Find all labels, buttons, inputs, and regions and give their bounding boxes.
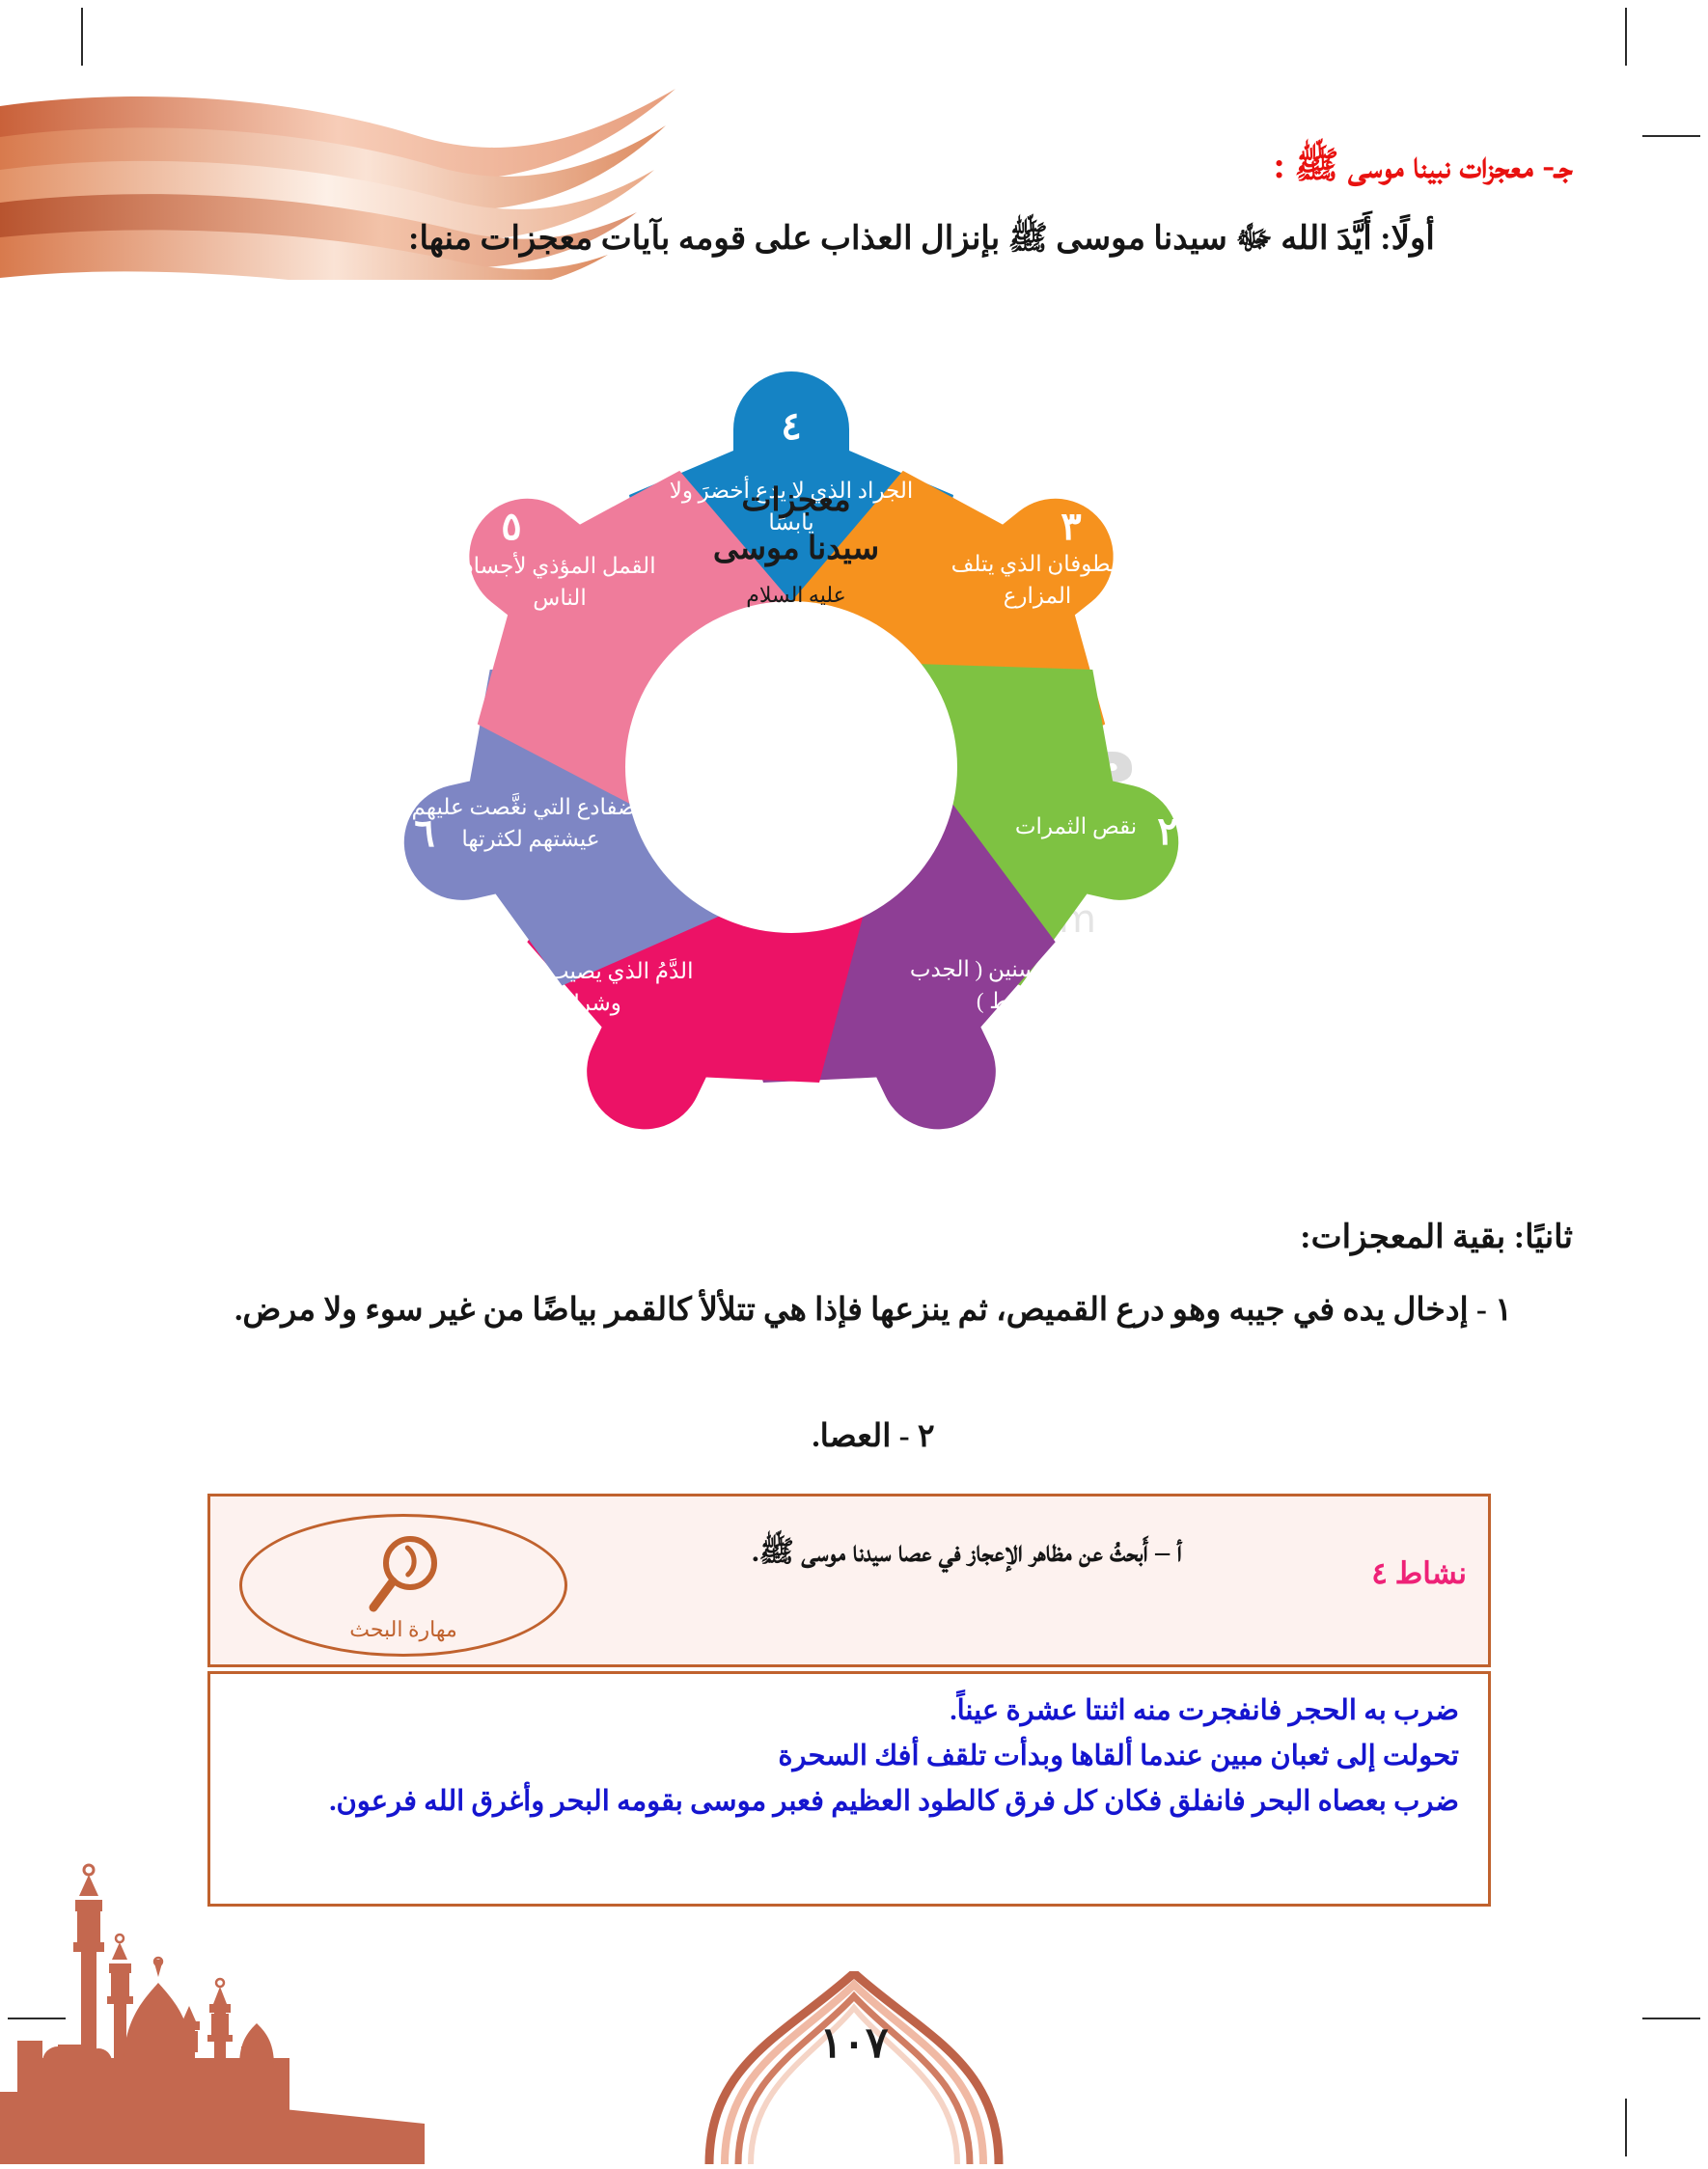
footer-arch-decoration [671,1971,1037,2164]
diagram-center-disc [625,601,957,933]
skill-badge: مهارة البحث [239,1514,567,1657]
answer-line-2: تحولت إلى ثعبان مبين عندما ألقاها وبدأت … [239,1735,1459,1778]
crop-mark-top-right-horizontal [1642,135,1700,137]
miracles-flower-diagram: ٤ ٣ ٢ ١ ٧ ٦ ٥ الجراد الذي لا يدع أخضرَ و… [246,289,1336,1245]
answer-line-1: ضرب به الحجر فانفجرت منه اثنتا عشرة عينا… [239,1689,1459,1733]
second-section-heading: ثانيًا: بقية المعجزات: [1300,1218,1573,1256]
crop-mark-top-right-vertical [1625,8,1627,66]
activity-label: نشاط ٤ [1371,1556,1467,1591]
crop-mark-top-left-vertical [81,8,83,66]
crop-mark-top-left-horizontal [8,135,66,137]
section-heading: جـ- معجزات نبينا موسى ﷺ : [1273,143,1573,196]
miracle-item-2: ٢ - العصا. [174,1416,1573,1455]
activity-question: أ – أَبحثُ عن مظاهر الإعجاز في عصا سيدنا… [610,1527,1324,1577]
magnifier-icon [362,1530,445,1628]
activity-box: نشاط ٤ أ – أَبحثُ عن مظاهر الإعجاز في عص… [207,1494,1491,1667]
skill-badge-label: مهارة البحث [242,1617,565,1642]
answer-box: ضرب به الحجر فانفجرت منه اثنتا عشرة عينا… [207,1671,1491,1907]
page-number: ١٠٧ [820,2018,889,2068]
miracle-item-1: ١ - إدخال يده في جيبه وهو درع القميص، ثم… [174,1283,1573,1339]
intro-paragraph: أولًا: أَيَّدَ الله ﷻ سيدنا موسى ﷺ بإنزا… [270,218,1573,265]
answer-line-3: ضرب بعصاه البحر فانفلق فكان كل فرق كالطو… [239,1780,1459,1824]
crop-mark-bottom-right-horizontal [1642,2018,1700,2019]
crop-mark-bottom-right-vertical [1625,2099,1627,2156]
